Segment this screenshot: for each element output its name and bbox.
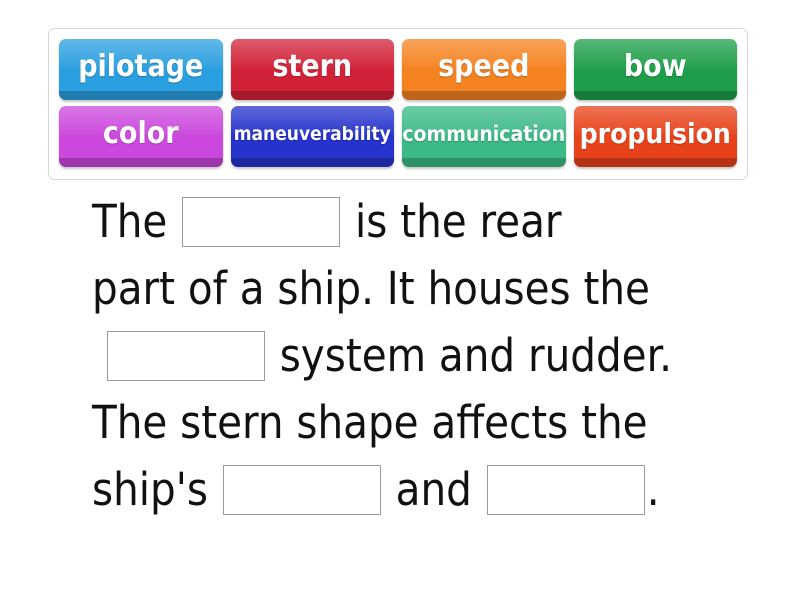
word-bank-row-2: color maneuverability communication prop…	[55, 103, 741, 170]
sentence-text: and	[383, 463, 485, 516]
answer-blank-4[interactable]	[487, 465, 645, 515]
sentence-line-2: part of a ship. It houses the	[92, 255, 732, 322]
word-tile-label: propulsion	[580, 120, 731, 153]
sentence-text: .	[647, 463, 660, 516]
sentence-line-5: ship's and .	[92, 456, 732, 523]
word-tile-communication[interactable]: communication	[402, 106, 566, 167]
sentence-text: is the rear	[342, 195, 561, 248]
word-tile-pilotage[interactable]: pilotage	[59, 39, 223, 100]
sentence-body: The is the rear part of a ship. It house…	[92, 188, 732, 523]
word-tile-stern[interactable]: stern	[231, 39, 395, 100]
word-tile-label: bow	[624, 52, 687, 87]
sentence-text: The stern shape affects the	[92, 396, 648, 449]
sentence-line-1: The is the rear	[92, 188, 732, 255]
sentence-text: system and rudder.	[267, 329, 672, 382]
word-tile-label: communication	[402, 124, 565, 150]
word-tile-propulsion[interactable]: propulsion	[574, 106, 738, 167]
word-tile-label: stern	[272, 52, 352, 87]
sentence-line-3: system and rudder.	[92, 322, 732, 389]
word-tile-bow[interactable]: bow	[574, 39, 738, 100]
sentence-text: The	[92, 195, 180, 248]
sentence-line-4: The stern shape affects the	[92, 389, 732, 456]
word-tile-label: color	[103, 119, 179, 154]
word-bank-row-1: pilotage stern speed bow	[55, 36, 741, 103]
word-tile-label: pilotage	[78, 52, 203, 87]
fill-in-the-blanks-activity: pilotage stern speed bow color maneuvera…	[0, 0, 800, 600]
word-bank-tray: pilotage stern speed bow color maneuvera…	[48, 28, 748, 180]
word-tile-label: speed	[438, 52, 529, 87]
answer-blank-3[interactable]	[223, 465, 381, 515]
sentence-text: ship's	[92, 463, 221, 516]
answer-blank-1[interactable]	[182, 197, 340, 247]
word-tile-color[interactable]: color	[59, 106, 223, 167]
sentence-text: part of a ship. It houses the	[92, 262, 650, 315]
word-tile-label: maneuverability	[234, 125, 391, 149]
word-tile-maneuverability[interactable]: maneuverability	[231, 106, 395, 167]
word-tile-speed[interactable]: speed	[402, 39, 566, 100]
sentence-text	[92, 329, 105, 382]
answer-blank-2[interactable]	[107, 331, 265, 381]
